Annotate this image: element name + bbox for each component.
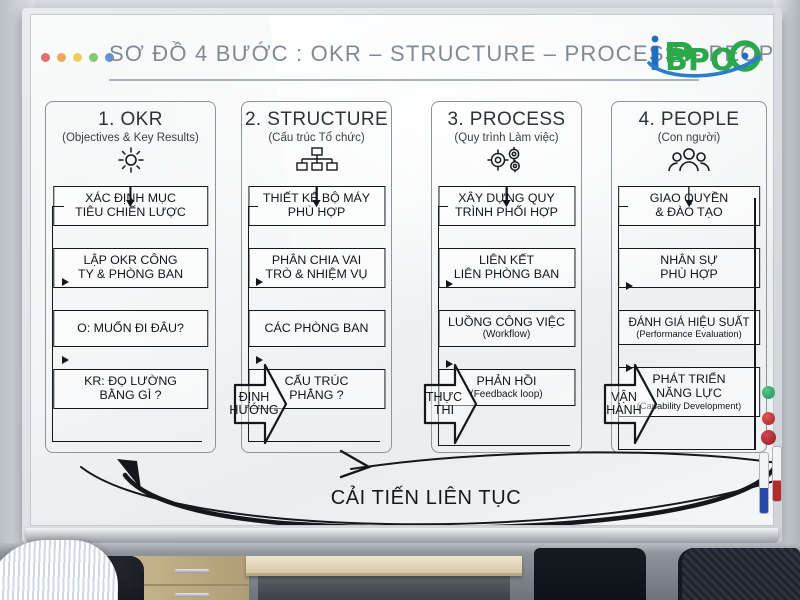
title-underline xyxy=(109,79,699,81)
column-header: 3. PROCESS (Quy trình Làm việc) xyxy=(432,102,581,175)
process-box[interactable]: ĐÁNH GIÁ HIỆU SUẤT (Performance Evaluati… xyxy=(618,310,760,345)
process-box[interactable]: O: MUỐN ĐI ĐÂU? xyxy=(53,310,208,348)
dot-green xyxy=(89,53,98,62)
cabinet-divider xyxy=(133,584,249,586)
connector-gap xyxy=(618,226,760,248)
feedback-rail-arrow xyxy=(62,278,69,286)
connector-gap xyxy=(618,288,760,310)
person-silhouette xyxy=(0,540,118,600)
office-scene: SƠ ĐỒ 4 BƯỚC : OKR – STRUCTURE – PROCESS… xyxy=(0,0,800,600)
desk-body xyxy=(258,574,510,600)
people-icon xyxy=(612,145,766,175)
label-line-2: HƯỚNG xyxy=(229,404,278,418)
process-box[interactable]: LUỒNG CÔNG VIỆC (Workflow) xyxy=(438,310,575,347)
column-header: 4. PEOPLE (Con người) xyxy=(612,102,766,175)
cabinet-handle xyxy=(175,569,209,573)
process-box[interactable]: CÁC PHÒNG BAN xyxy=(248,310,385,348)
red-magnet[interactable] xyxy=(762,412,775,425)
process-box[interactable]: LẬP OKR CÔNG TY & PHÒNG BAN xyxy=(53,248,208,288)
label-line-1: THỰC xyxy=(426,391,462,405)
box-line-2: TRÒ & NHIỆM VỤ xyxy=(252,268,381,282)
label-line-2: HÀNH xyxy=(606,404,641,418)
box-line-1: LẬP OKR CÔNG xyxy=(57,254,204,268)
connector-gap xyxy=(438,288,575,310)
column-header: 2. STRUCTURE (Cấu trúc Tổ chức) xyxy=(242,102,391,175)
box-line-1: ĐÁNH GIÁ HIỆU SUẤT xyxy=(622,316,756,329)
box-note: (Performance Evaluation) xyxy=(622,329,756,339)
column-title: 4. PEOPLE xyxy=(612,109,766,131)
box-line-2: PHÙ HỢP xyxy=(252,206,381,220)
connector-gap xyxy=(53,347,208,369)
box-line-2: BẰNG GÌ ? xyxy=(57,389,204,403)
column-title: 1. OKR xyxy=(46,109,215,131)
desk-top xyxy=(246,556,522,576)
continuous-improvement-loop: CẢI TIẾN LIÊN TỤC xyxy=(51,445,774,526)
chair-right xyxy=(678,548,800,600)
process-box[interactable]: PHÂN CHIA VAI TRÒ & NHIỆM VỤ xyxy=(248,248,385,288)
connector-label: VẬN HÀNH xyxy=(601,359,647,449)
column-title: 2. STRUCTURE xyxy=(242,109,391,131)
red-marker[interactable] xyxy=(772,446,782,502)
feedback-rail-arrow xyxy=(446,280,453,288)
dot-orange xyxy=(57,53,66,62)
column-subtitle: (Quy trình Làm việc) xyxy=(432,132,581,144)
connector-thuc-thi: THỰC THI xyxy=(421,359,479,449)
loop-label: CẢI TIẾN LIÊN TỤC xyxy=(51,487,774,510)
connector-gap xyxy=(248,226,385,248)
box-line-1: LIÊN KẾT xyxy=(442,254,571,268)
feedback-rail-bottom xyxy=(52,432,202,442)
color-dots xyxy=(41,53,114,62)
feedback-rail-arrow xyxy=(256,278,263,286)
connector-dinh-huong: ĐỊNH HƯỚNG xyxy=(231,359,289,449)
box-line-1: O: MUỐN ĐI ĐÂU? xyxy=(57,322,204,336)
whiteboard-tray xyxy=(26,528,778,542)
page-title: SƠ ĐỒ 4 BƯỚC : OKR – STRUCTURE – PROCESS… xyxy=(109,41,709,67)
box-line-1: NHÂN SỰ xyxy=(622,254,756,268)
red-magnet[interactable] xyxy=(761,430,776,445)
box-note: (Workflow) xyxy=(442,329,571,340)
gears-icon xyxy=(432,145,581,175)
people-return-rail xyxy=(754,198,756,450)
sun-icon xyxy=(46,145,215,175)
column-title: 3. PROCESS xyxy=(432,109,581,131)
box-line-1: LUỒNG CÔNG VIỆC xyxy=(442,316,571,330)
blue-marker[interactable] xyxy=(759,452,769,514)
org-chart-icon xyxy=(242,145,391,175)
connector-gap xyxy=(53,226,208,248)
feedback-rail xyxy=(52,206,64,438)
connector-gap xyxy=(53,288,208,310)
whiteboard: SƠ ĐỒ 4 BƯỚC : OKR – STRUCTURE – PROCESS… xyxy=(30,14,774,526)
process-box[interactable]: KR: ĐỌ LƯỜNG BẰNG GÌ ? xyxy=(53,369,208,409)
label-line-1: ĐỊNH xyxy=(239,391,270,405)
dot-red xyxy=(41,53,50,62)
column-okr[interactable]: 1. OKR (Objectives & Key Results) xyxy=(45,101,216,453)
column-subtitle: (Cấu trúc Tổ chức) xyxy=(242,132,391,144)
feedback-rail-arrow xyxy=(62,356,69,364)
connector-van-hanh: VẬN HÀNH xyxy=(601,359,659,449)
label-line-1: VẬN xyxy=(611,391,637,405)
dot-yellow xyxy=(73,53,82,62)
connector-gap xyxy=(248,288,385,310)
box-line-2: TIÊU CHIẾN LƯỢC xyxy=(57,206,204,220)
connector-label: THỰC THI xyxy=(421,359,467,449)
connector-gap xyxy=(438,226,575,248)
box-line-2: LIÊN PHÒNG BAN xyxy=(442,268,571,282)
cabinet-handle xyxy=(175,593,209,597)
column-subtitle: (Objectives & Key Results) xyxy=(46,132,215,144)
label-line-2: THI xyxy=(434,404,454,418)
feedback-rail-arrow xyxy=(626,282,633,290)
chair-middle xyxy=(534,548,646,600)
column-subtitle: (Con người) xyxy=(612,132,766,144)
green-magnet[interactable] xyxy=(762,386,775,399)
columns-container: 1. OKR (Objectives & Key Results) xyxy=(45,101,761,461)
column-boxes: XÁC ĐỊNH MỤC TIÊU CHIẾN LƯỢC LẬP OKR CÔN… xyxy=(53,186,208,409)
box-line-2: PHÙ HỢP xyxy=(622,268,756,282)
column-header: 1. OKR (Objectives & Key Results) xyxy=(46,102,215,175)
box-line-1: CÁC PHÒNG BAN xyxy=(252,322,381,336)
box-line-2: & ĐÀO TẠO xyxy=(622,206,756,220)
ibpo-logo: BPO xyxy=(641,27,767,83)
box-line-2: TRÌNH PHỐI HỢP xyxy=(442,206,571,220)
box-line-2: TY & PHÒNG BAN xyxy=(57,268,204,282)
process-box[interactable]: LIÊN KẾT LIÊN PHÒNG BAN xyxy=(438,248,575,288)
box-line-1: PHÂN CHIA VAI xyxy=(252,254,381,268)
connector-label: ĐỊNH HƯỚNG xyxy=(231,359,277,449)
process-box[interactable]: NHÂN SỰ PHÙ HỢP xyxy=(618,248,760,288)
